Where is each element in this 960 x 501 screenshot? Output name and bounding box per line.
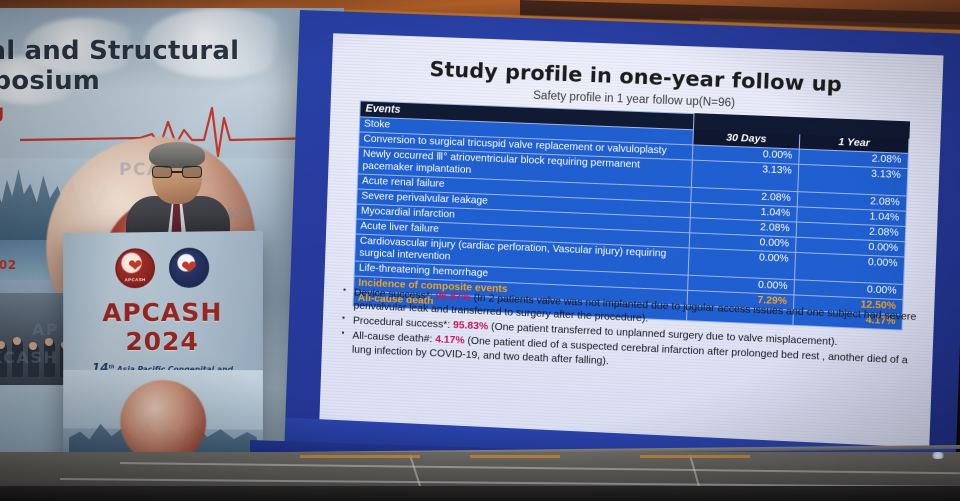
bullet-lead: All-cause death#: xyxy=(352,331,435,346)
stage-front-face xyxy=(0,486,960,501)
row-value-30days: 3.13% xyxy=(691,160,798,192)
eyeglasses-icon xyxy=(152,166,202,178)
projection-screen: Study profile in one-year follow up Safe… xyxy=(300,10,960,472)
backdrop-watermark: AP xyxy=(32,320,59,339)
apcash-seal-logo-icon: ❤ APCASH xyxy=(115,248,155,288)
bullet-value: 96.87% xyxy=(435,291,471,304)
speaker-hair xyxy=(149,142,205,168)
partner-seal-logo-icon: ❤ xyxy=(169,247,209,287)
presentation-slide: Study profile in one-year follow up Safe… xyxy=(319,33,943,452)
bullet-value: 95.83% xyxy=(453,320,489,333)
row-value-1year: 3.13% xyxy=(798,164,908,196)
backdrop-year-mark: 202 xyxy=(0,258,17,272)
podium-title: APCASH 2024 xyxy=(71,297,255,356)
speaker-podium: ❤ APCASH ❤ APCASH 2024 14th Asia Pacific… xyxy=(63,231,263,482)
bullet-value: 4.17% xyxy=(435,334,465,346)
bullet-lead: Device success*: xyxy=(354,288,436,303)
backdrop-watermark: KCASH xyxy=(0,348,58,367)
screen-blue-border: Study profile in one-year follow up Safe… xyxy=(284,10,960,494)
conference-room-photo: nital and Structural ymposium ong 202 PC… xyxy=(0,0,960,501)
bullet-lead: Procedural success*: xyxy=(353,316,453,331)
stage-spotlight xyxy=(930,452,946,459)
backdrop-title-line1: nital and Structural xyxy=(0,36,278,66)
podium-logos: ❤ APCASH ❤ xyxy=(71,247,255,289)
backdrop-title: nital and Structural ymposium xyxy=(0,36,278,96)
backdrop-title-line2: ymposium xyxy=(0,66,278,96)
logo-caption: APCASH xyxy=(125,277,146,282)
